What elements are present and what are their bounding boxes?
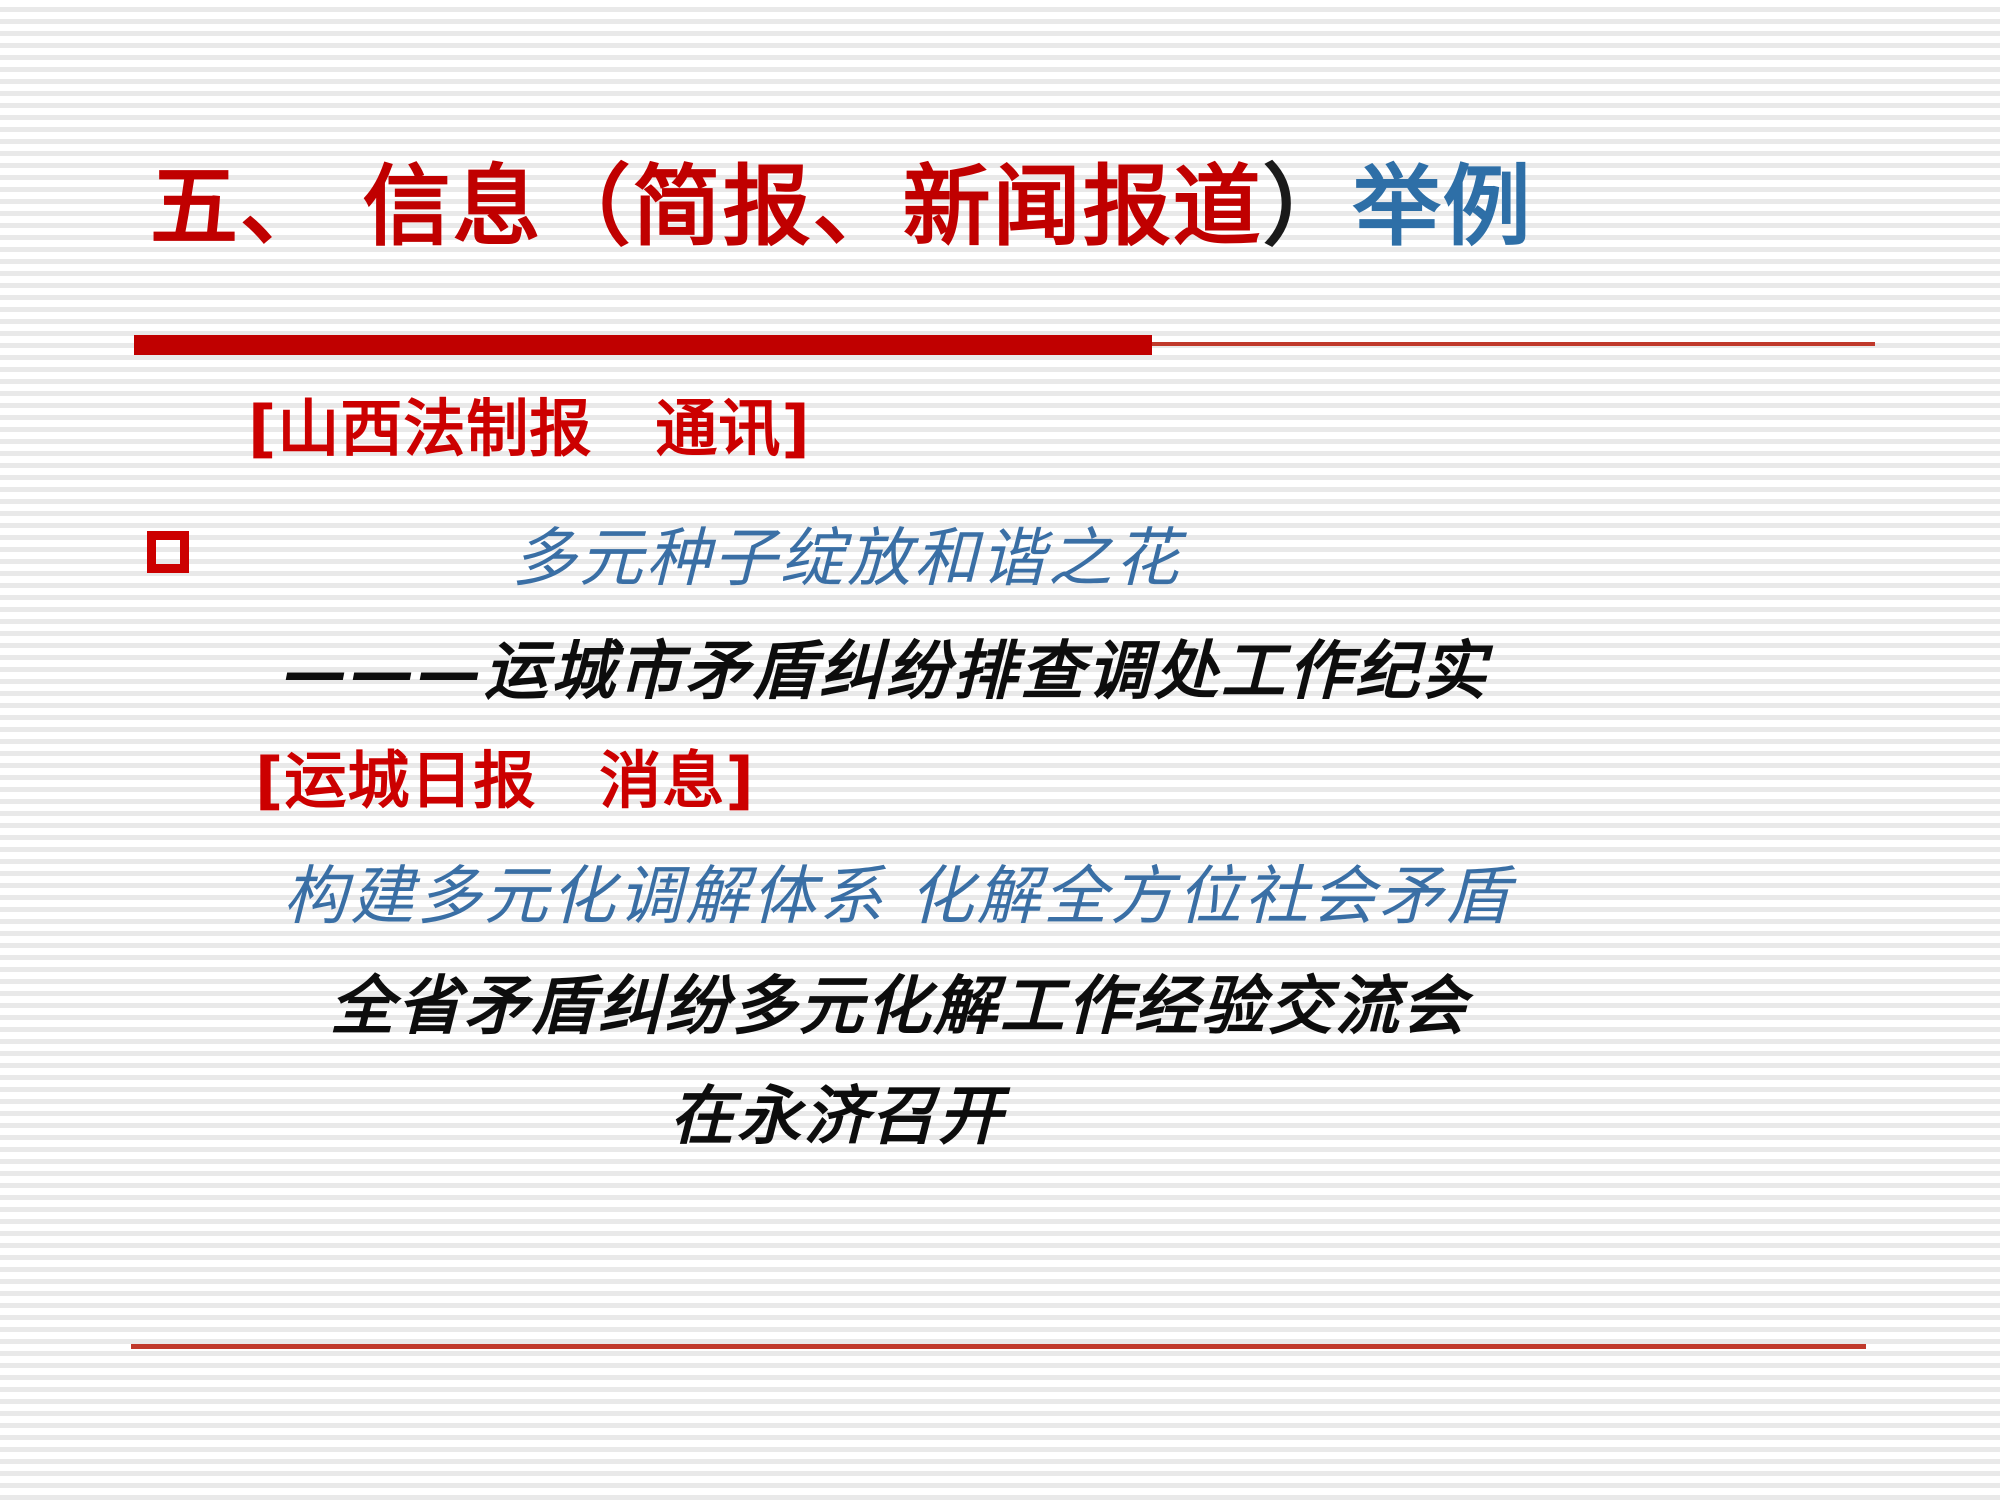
article-subhead-1: ———运城市矛盾纠纷排查调处工作纪实 [283, 640, 1489, 704]
presentation-slide: 五、 信息（简报、新闻报道）举例 [山西法制报 通讯] 多元种子绽放和谐之花 —… [0, 0, 2000, 1500]
slide-title: 五、 信息（简报、新闻报道）举例 [150, 152, 1910, 272]
slide-title-paren-segment: ） [1263, 155, 1353, 258]
article-headline-2: 构建多元化调解体系 化解全方位社会矛盾 [283, 865, 1512, 929]
article-headline-1: 多元种子绽放和谐之花 [512, 527, 1182, 591]
footer-divider-line [131, 1344, 1866, 1349]
slide-title-red-segment: 五、 信息（简报、新闻报道 [150, 155, 1263, 258]
article-subhead-3: 在永济召开 [670, 1085, 1005, 1149]
slide-title-blue-segment: 举例 [1353, 155, 1533, 258]
source-tag-shanxi-fazhibao: [山西法制报 通讯] [248, 398, 811, 460]
title-underline-thick-bar [134, 335, 1152, 355]
square-bullet-icon [147, 531, 189, 573]
source-tag-yuncheng-ribao: [运城日报 消息] [255, 750, 755, 812]
article-subhead-2: 全省矛盾纠纷多元化解工作经验交流会 [330, 975, 1469, 1039]
title-underline-thin-line [1152, 342, 1875, 346]
